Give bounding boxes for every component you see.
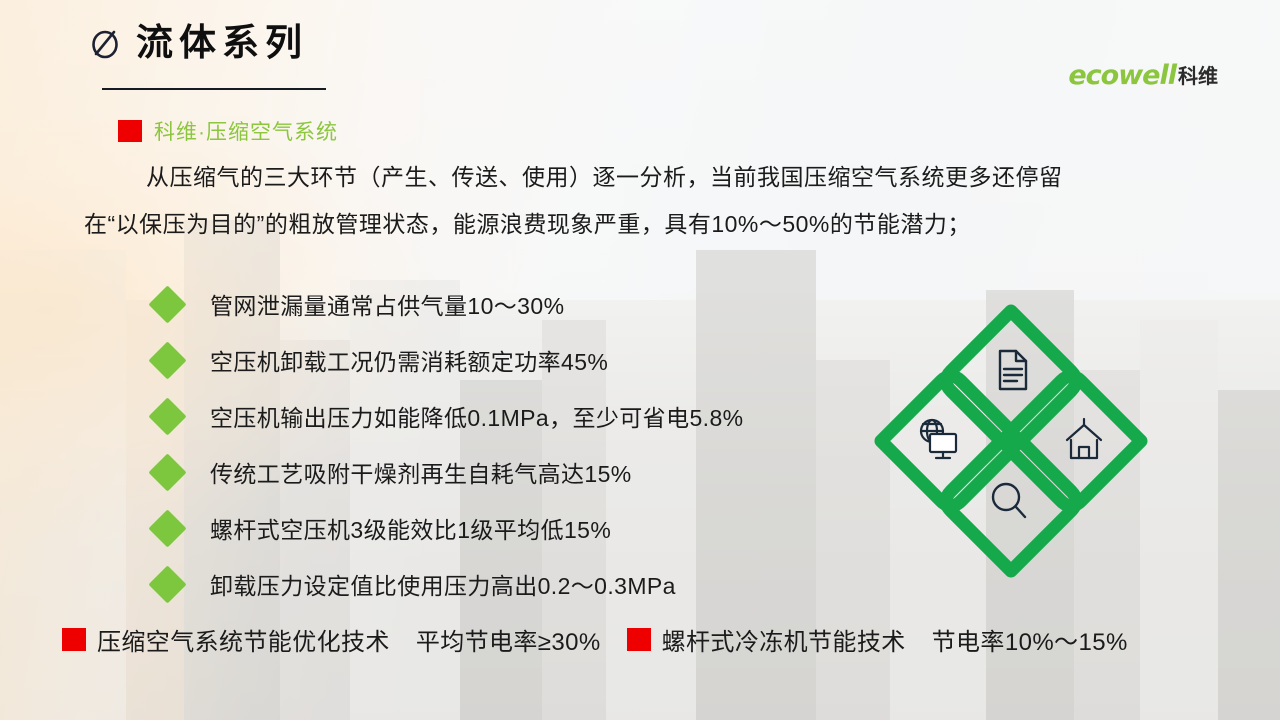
document-icon [1000, 351, 1026, 389]
list-item: 管网泄漏量通常占供气量10～30% [154, 276, 744, 332]
list-item: 传统工艺吸附干燥剂再生自耗气高达15% [154, 444, 744, 500]
intro-paragraph: 从压缩气的三大环节（产生、传送、使用）逐一分析，当前我国压缩空气系统更多还停留 … [84, 163, 1214, 258]
section-subtitle: 科维·压缩空气系统 [118, 116, 338, 146]
bottom-highlight-bar: 压缩空气系统节能优化技术 平均节电率≥30% 螺杆式冷冻机节能技术 节电率10%… [62, 622, 1128, 657]
green-diamond-bullet-icon [148, 285, 186, 323]
bottom-item-value: 节电率10%～15% [932, 622, 1128, 657]
slide-header: 流体系列 [88, 24, 308, 61]
paragraph-line-1: 从压缩气的三大环节（产生、传送、使用）逐一分析，当前我国压缩空气系统更多还停留 [84, 163, 1214, 192]
bottom-item-value: 平均节电率≥30% [416, 622, 601, 657]
list-item-label: 螺杆式空压机3级能效比1级平均低15% [210, 511, 611, 545]
green-diamond-bullet-icon [148, 509, 186, 547]
section-subtitle-text: 科维·压缩空气系统 [154, 116, 338, 146]
list-item: 空压机卸载工况仍需消耗额定功率45% [154, 332, 744, 388]
diameter-symbol-icon [88, 26, 122, 60]
red-square-bullet-icon [62, 628, 86, 651]
logo-brand-text: ecowell [1068, 62, 1176, 89]
red-square-bullet-icon [627, 628, 651, 651]
logo-brand-cn-text: 科维 [1178, 67, 1218, 89]
page-title: 流体系列 [136, 24, 308, 61]
green-diamond-bullet-icon [148, 565, 186, 603]
list-item-label: 传统工艺吸附干燥剂再生自耗气高达15% [210, 455, 632, 489]
list-item: 卸载压力设定值比使用压力高出0.2～0.3MPa [154, 556, 744, 612]
red-square-bullet-icon [118, 120, 142, 142]
four-diamond-cluster-graphic [873, 303, 1149, 579]
globe-monitor-icon [921, 420, 956, 458]
magnifier-icon [993, 484, 1025, 517]
list-item-label: 空压机卸载工况仍需消耗额定功率45% [210, 343, 608, 377]
bottom-item-2: 螺杆式冷冻机节能技术 节电率10%～15% [627, 622, 1128, 657]
green-diamond-bullet-icon [148, 341, 186, 379]
list-item-label: 卸载压力设定值比使用压力高出0.2～0.3MPa [210, 567, 676, 601]
paragraph-line-2: 在“以保压为目的”的粗放管理状态，能源浪费现象严重，具有10%～50%的节能潜力… [84, 210, 1214, 239]
bullet-list: 管网泄漏量通常占供气量10～30% 空压机卸载工况仍需消耗额定功率45% 空压机… [154, 276, 744, 612]
house-icon [1067, 419, 1101, 458]
brand-logo: ecowell 科维 [1068, 62, 1218, 89]
green-diamond-bullet-icon [148, 397, 186, 435]
list-item-label: 管网泄漏量通常占供气量10～30% [210, 287, 564, 321]
bottom-item-1: 压缩空气系统节能优化技术 平均节电率≥30% [62, 622, 601, 657]
title-divider [102, 88, 326, 90]
list-item: 螺杆式空压机3级能效比1级平均低15% [154, 500, 744, 556]
list-item-label: 空压机输出压力如能降低0.1MPa，至少可省电5.8% [210, 399, 744, 433]
bottom-item-label: 压缩空气系统节能优化技术 [97, 622, 390, 657]
green-diamond-bullet-icon [148, 453, 186, 491]
list-item: 空压机输出压力如能降低0.1MPa，至少可省电5.8% [154, 388, 744, 444]
slide-canvas: 流体系列 ecowell 科维 科维·压缩空气系统 从压缩气的三大环节（产生、传… [0, 0, 1280, 720]
bottom-item-label: 螺杆式冷冻机节能技术 [662, 622, 906, 657]
